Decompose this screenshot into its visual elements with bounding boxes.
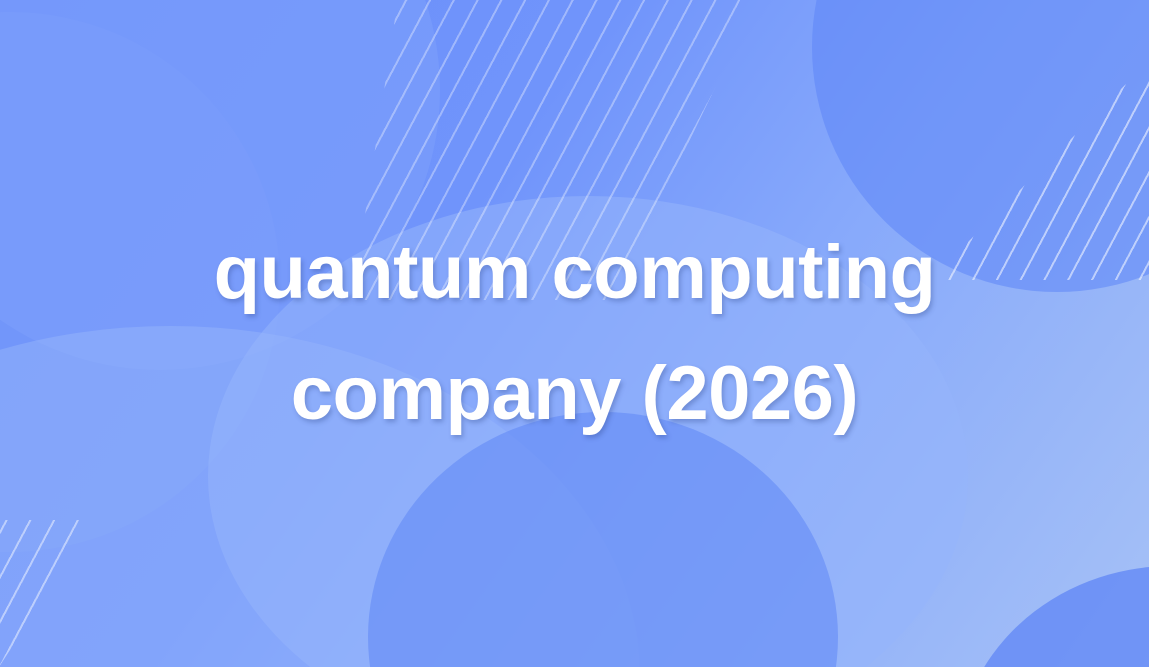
page-title: quantum computing company (2026) (145, 213, 1005, 453)
hero-banner-card: quantum computing company (2026) (0, 0, 1149, 667)
headline-container: quantum computing company (2026) (0, 0, 1149, 667)
